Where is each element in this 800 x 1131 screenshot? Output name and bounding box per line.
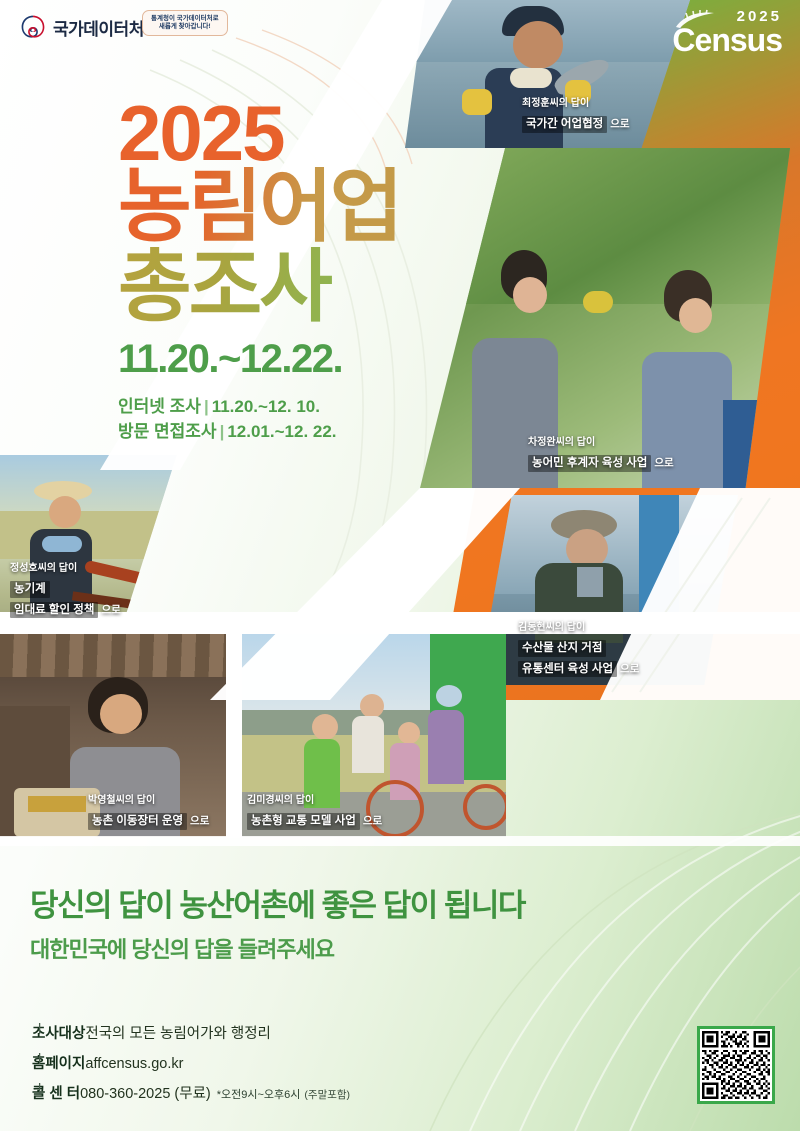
- footer-row-callcenter: 콜 센 터 l 080-360-2025 (무료) *오전9시~오후6시 (주말…: [32, 1082, 350, 1103]
- caption-suffix: 으로: [363, 815, 382, 827]
- footer-value: 전국의 모든 농림어가와 행정리: [85, 1022, 271, 1043]
- caption-person-name: 정성호씨의 답이: [10, 563, 121, 576]
- caption-greenhouse: 차정완씨의 답이 농어민 후계자 육성 사업으로: [528, 437, 674, 473]
- survey-method-label: 인터넷 조사: [118, 397, 201, 416]
- caption-suffix: 으로: [620, 663, 639, 675]
- caption-mobile-market: 박영철씨의 답이 농촌 이동장터 운영으로: [88, 795, 209, 831]
- footer-separator: l: [38, 1052, 41, 1068]
- government-agency-name: 국가데이터처: [53, 15, 144, 40]
- survey-method-dates: 11.20.~12. 10.: [212, 397, 320, 416]
- caption-highlight: 국가간 어업협정: [522, 116, 607, 133]
- wheat-grain-icon: [672, 9, 718, 31]
- callcenter-hours-note: (주말포함): [304, 1087, 350, 1102]
- title-line-3: 총조사: [118, 247, 448, 327]
- title-line-2: 농림어업: [118, 167, 448, 247]
- poster-canvas: 최정훈씨의 답이 국가간 어업협정으로 차정완씨의 답이 농어민 후계자 육성 …: [0, 0, 800, 1131]
- caption-suffix: 으로: [101, 604, 120, 616]
- footer-separator: l: [38, 1082, 41, 1098]
- separator: |: [204, 397, 209, 416]
- separator: |: [220, 422, 225, 441]
- caption-highlight: 농기계: [10, 581, 50, 598]
- census-logo: 2025 Census: [672, 8, 782, 55]
- badge-line-2: 새롭게 찾아갑니다!: [151, 23, 219, 31]
- caption-person-name: 차정완씨의 답이: [528, 437, 674, 450]
- government-logo: 국가데이터처: [20, 14, 144, 40]
- caption-person-name: 박영철씨의 답이: [88, 795, 209, 808]
- rebranding-notice-badge: 통계청이 국가데이터처로 새롭게 찾아갑니다!: [142, 10, 228, 36]
- caption-farm-machine: 정성호씨의 답이 농기계 임대료 할인 정책으로: [10, 563, 121, 619]
- survey-method-row: 인터넷 조사|11.20.~12. 10.: [118, 395, 448, 420]
- caption-highlight-2: 유통센터 육성 사업: [518, 661, 617, 678]
- caption-highlight-2: 임대료 할인 정책: [10, 602, 98, 619]
- caption-person-name: 김미경씨의 답이: [247, 795, 382, 808]
- slogan-sub: 대한민국에 당신의 답을 들려주세요: [30, 932, 525, 964]
- caption-family-transport: 김미경씨의 답이 농촌형 교통 모델 사업으로: [247, 795, 382, 831]
- caption-suffix: 으로: [654, 457, 673, 469]
- caption-highlight: 농촌형 교통 모델 사업: [247, 813, 360, 830]
- footer-row-website: 홈페이지 l affcensus.go.kr: [32, 1052, 350, 1073]
- title-date-range: 11.20.~12.22.: [118, 339, 448, 379]
- callcenter-hours: *오전9시~오후6시: [217, 1086, 301, 1102]
- badge-line-1: 통계청이 국가데이터처로: [151, 15, 219, 23]
- survey-method-label: 방문 면접조사: [118, 422, 217, 441]
- caption-suffix: 으로: [610, 118, 629, 130]
- qr-code-icon[interactable]: [697, 1026, 775, 1104]
- caption-person-name: 최정훈씨의 답이: [522, 98, 630, 111]
- caption-fisherman: 최정훈씨의 답이 국가간 어업협정으로: [522, 98, 630, 134]
- poster-title-block: 2025 농림어업 총조사 11.20.~12.22. 인터넷 조사|11.20…: [118, 100, 448, 444]
- footer-separator: l: [38, 1022, 41, 1038]
- caption-person-name: 김동현씨의 답이: [518, 622, 639, 635]
- survey-method-row: 방문 면접조사|12.01.~12. 22.: [118, 420, 448, 445]
- caption-highlight: 농어민 후계자 육성 사업: [528, 455, 651, 472]
- slogan-block: 당신의 답이 농산어촌에 좋은 답이 됩니다 대한민국에 당신의 답을 들려주세…: [30, 888, 525, 964]
- slogan-main: 당신의 답이 농산어촌에 좋은 답이 됩니다: [30, 888, 525, 924]
- caption-highlight: 농촌 이동장터 운영: [88, 813, 187, 830]
- korea-government-taegeuk-icon: [20, 14, 46, 40]
- caption-highlight: 수산물 산지 거점: [518, 640, 606, 657]
- caption-suffix: 으로: [190, 815, 209, 827]
- title-year: 2025: [118, 100, 448, 167]
- survey-method-list: 인터넷 조사|11.20.~12. 10. 방문 면접조사|12.01.~12.…: [118, 395, 448, 444]
- footer-row-target: 조사대상 l 전국의 모든 농림어가와 행정리: [32, 1022, 350, 1043]
- survey-method-dates: 12.01.~12. 22.: [227, 422, 336, 441]
- website-url[interactable]: affcensus.go.kr: [85, 1056, 183, 1072]
- callcenter-number[interactable]: 080-360-2025 (무료): [80, 1082, 211, 1103]
- footer-info: 조사대상 l 전국의 모든 농림어가와 행정리 홈페이지 l affcensus…: [32, 1022, 350, 1112]
- caption-seafood: 김동현씨의 답이 수산물 산지 거점 유통센터 육성 사업으로: [518, 622, 639, 678]
